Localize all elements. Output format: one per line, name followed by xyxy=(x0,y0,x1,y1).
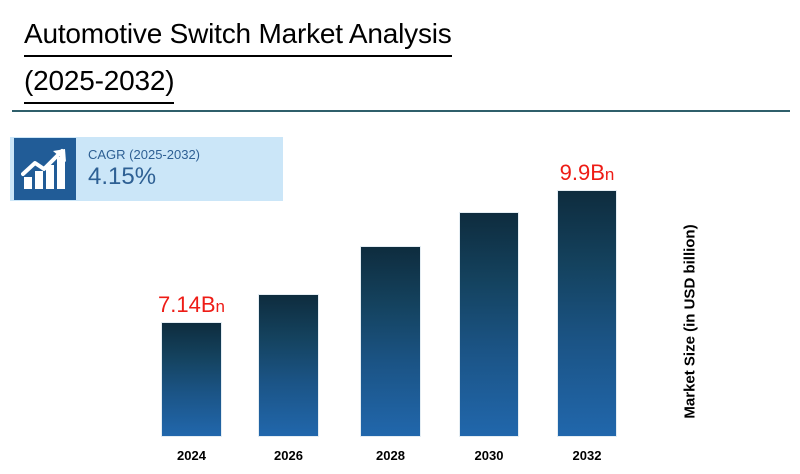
bar-group-2028: 2028 xyxy=(361,247,420,436)
x-tick-2030: 2030 xyxy=(475,448,504,463)
bar-2032 xyxy=(558,191,616,436)
bar-value-text-2032: 9.9Bn xyxy=(560,160,615,185)
bar-value-text-2024: 7.14Bn xyxy=(158,292,225,317)
bar-2024 xyxy=(162,323,221,436)
y-axis-title: Market Size (in USD billion) xyxy=(678,196,702,446)
bar-2028 xyxy=(361,247,420,436)
bar-2026 xyxy=(259,295,318,436)
x-tick-2026: 2026 xyxy=(274,448,303,463)
bar-value-label-2032: 9.9Bn xyxy=(560,161,615,187)
y-axis-title-text: Market Size (in USD billion) xyxy=(682,224,699,418)
bar-group-2026: 2026 xyxy=(259,295,318,436)
x-tick-2032: 2032 xyxy=(573,448,602,463)
bar-group-2032: 9.9Bn 2032 xyxy=(558,191,616,436)
bar-group-2030: 2030 xyxy=(460,213,518,436)
bar-value-label-2024: 7.14Bn xyxy=(158,293,225,319)
bar-group-2024: 7.14Bn 2024 xyxy=(162,323,221,436)
bar-2030 xyxy=(460,213,518,436)
x-tick-2028: 2028 xyxy=(376,448,405,463)
x-tick-2024: 2024 xyxy=(177,448,206,463)
